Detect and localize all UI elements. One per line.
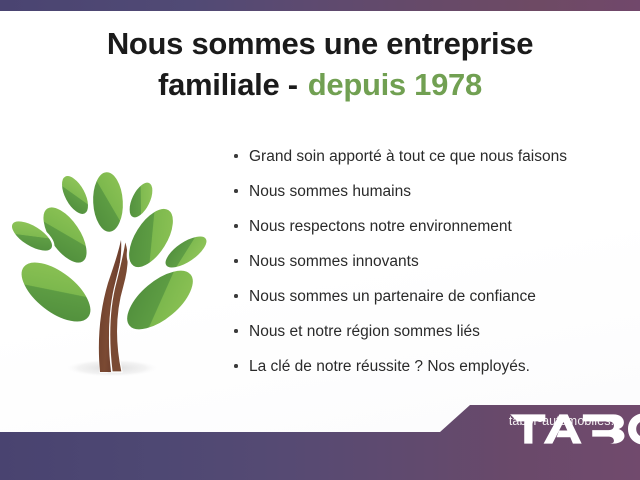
list-item: La clé de notre réussite ? Nos employés. [232,358,632,375]
footer-shape [0,405,640,480]
bullet-dot-icon [234,224,238,228]
bullet-dot-icon [234,364,238,368]
list-item: Nous sommes humains [232,183,632,200]
list-item-label: Nous sommes humains [249,183,411,200]
leaf-top-center [90,170,125,234]
bullet-dot-icon [234,294,238,298]
bullet-dot-icon [234,329,238,333]
bullet-dot-icon [234,259,238,263]
bullet-dot-icon [234,154,238,158]
page-title: Nous sommes une entreprise familiale -de… [0,24,640,104]
value-proposition-list: Grand soin apporté à tout ce que nous fa… [232,148,632,393]
leaf-lower-right [116,258,205,341]
list-item-label: Nous sommes un partenaire de confiance [249,288,536,305]
footer-band: tabor-automobiles.fr [0,398,640,480]
list-item: Nous sommes innovants [232,253,632,270]
slide-canvas: Nous sommes une entreprise familiale -de… [0,0,640,480]
list-item-label: Nous respectons notre environnement [249,218,512,235]
list-item: Nous et notre région sommes liés [232,323,632,340]
top-accent-bar [0,0,640,11]
list-item: Grand soin apporté à tout ce que nous fa… [232,148,632,165]
list-item: Nous respectons notre environnement [232,218,632,235]
heading-accent-year: depuis 1978 [308,67,482,102]
heading-line-1: Nous sommes une entreprise [0,24,640,63]
list-item-label: Nous et notre région sommes liés [249,323,480,340]
list-item-label: Grand soin apporté à tout ce que nous fa… [249,148,567,165]
heading-line-2: familiale -depuis 1978 [0,65,640,104]
heading-line-2-main: familiale - [158,67,298,102]
tree-illustration [8,140,218,390]
bullet-dot-icon [234,189,238,193]
list-item-label: Nous sommes innovants [249,253,419,270]
list-item-label: La clé de notre réussite ? Nos employés. [249,358,530,375]
leaf-lower-left [10,250,102,335]
list-item: Nous sommes un partenaire de confiance [232,288,632,305]
